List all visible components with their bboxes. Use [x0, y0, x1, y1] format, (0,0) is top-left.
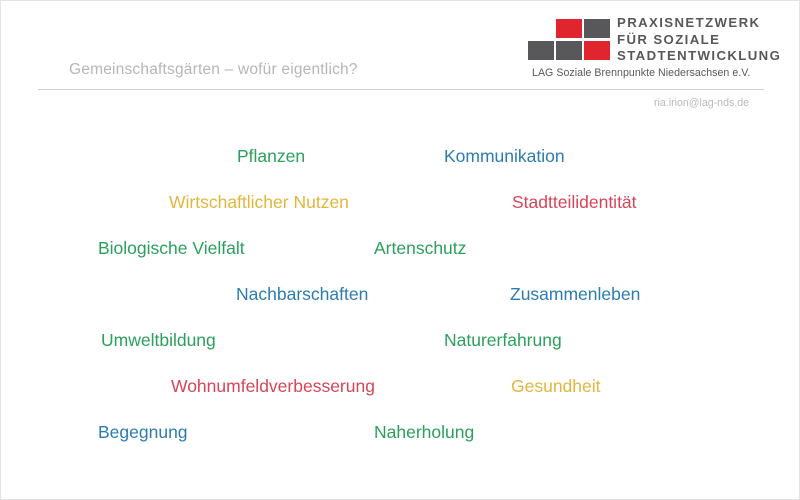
word-cloud-term: Kommunikation — [444, 145, 565, 167]
word-cloud-term: Pflanzen — [237, 145, 305, 167]
logo-square-red-bottom — [584, 41, 610, 60]
word-cloud-term: Wirtschaftlicher Nutzen — [169, 191, 349, 213]
contact-email: ria.irion@lag-nds.de — [654, 97, 749, 109]
word-cloud-term: Artenschutz — [374, 237, 466, 259]
word-cloud-term: Biologische Vielfalt — [98, 237, 245, 259]
word-cloud-term: Nachbarschaften — [236, 283, 368, 305]
word-cloud-term: Gesundheit — [511, 375, 601, 397]
word-cloud-term: Naturerfahrung — [444, 329, 562, 351]
word-cloud-term: Stadtteilidentität — [512, 191, 637, 213]
word-cloud-term: Umweltbildung — [101, 329, 216, 351]
logo-subtitle: LAG Soziale Brennpunkte Niedersachsen e.… — [532, 67, 750, 79]
logo-square-gray-bottom-mid — [556, 41, 582, 60]
word-cloud-term: Begegnung — [98, 421, 188, 443]
page-title: Gemeinschaftsgärten – wofür eigentlich? — [69, 61, 358, 79]
logo-wordmark: PRAXISNETZWERK FÜR SOZIALE STADTENTWICKL… — [617, 15, 781, 65]
word-cloud-term: Zusammenleben — [510, 283, 640, 305]
header-divider — [38, 89, 764, 90]
logo-line-2: FÜR SOZIALE — [617, 32, 781, 49]
logo-squares-icon — [534, 19, 596, 61]
logo-square-red-top — [556, 19, 582, 38]
slide-header: Gemeinschaftsgärten – wofür eigentlich? … — [1, 1, 799, 89]
logo-line-3: STADTENTWICKLUNG — [617, 48, 781, 65]
word-cloud: PflanzenKommunikationWirtschaftlicher Nu… — [1, 131, 799, 481]
logo-square-gray-bottom-left — [528, 41, 554, 60]
logo-square-gray-top — [584, 19, 610, 38]
logo-line-1: PRAXISNETZWERK — [617, 15, 781, 32]
presentation-slide: Gemeinschaftsgärten – wofür eigentlich? … — [0, 0, 800, 500]
word-cloud-term: Wohnumfeldverbesserung — [171, 375, 375, 397]
organization-logo: PRAXISNETZWERK FÜR SOZIALE STADTENTWICKL… — [534, 15, 766, 77]
word-cloud-term: Naherholung — [374, 421, 474, 443]
